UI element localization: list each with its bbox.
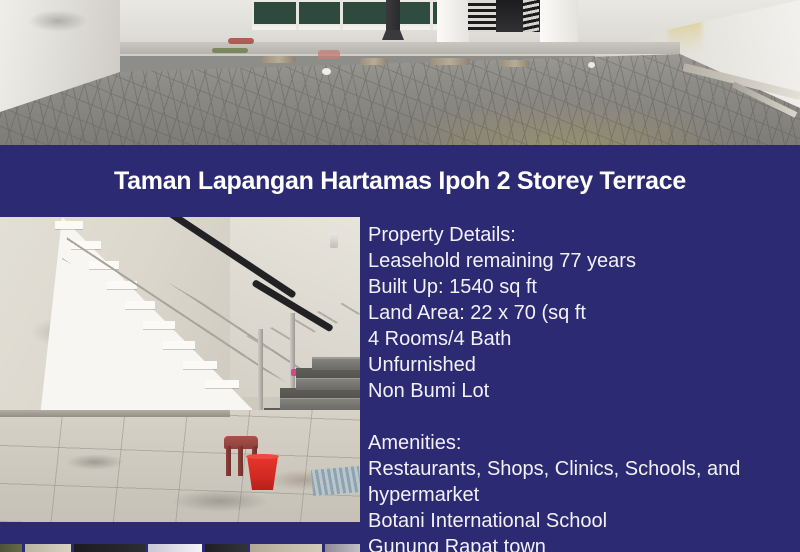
page-title: Taman Lapangan Hartamas Ipoh 2 Storey Te… — [114, 167, 686, 196]
carport-driveway-photo[interactable] — [0, 0, 800, 145]
baseboard — [0, 410, 230, 417]
debris-pink — [318, 50, 340, 59]
wall-sensor — [330, 233, 338, 248]
concrete-crack-pattern — [0, 50, 800, 145]
window-mullion — [340, 0, 343, 30]
property-listing-card: Taman Lapangan Hartamas Ipoh 2 Storey Te… — [0, 0, 800, 552]
title-bar: Taman Lapangan Hartamas Ipoh 2 Storey Te… — [0, 145, 800, 217]
debris-green — [212, 48, 248, 53]
amenity-school: Botani International School — [368, 508, 792, 534]
section-spacer — [368, 404, 792, 430]
white-column-left — [437, 0, 469, 44]
property-details-heading: Property Details: — [368, 222, 792, 248]
amenity-town: Gunung Rapat town — [368, 534, 792, 552]
photo-thumbnail-strip[interactable] — [0, 544, 360, 552]
stool-leg — [238, 446, 243, 476]
debris-white — [588, 62, 595, 68]
amenities-section: Amenities: Restaurants, Shops, Clinics, … — [368, 430, 792, 552]
door-mat — [311, 466, 360, 496]
detail-land-area: Land Area: 22 x 70 (sq ft — [368, 300, 792, 326]
wall-smudge — [28, 10, 88, 32]
stool-leg — [226, 446, 231, 476]
red-bucket — [247, 456, 278, 490]
thumbnail-3[interactable] — [74, 544, 144, 552]
thumbnail-6[interactable] — [250, 544, 322, 552]
staircase-interior-photo[interactable] — [0, 217, 360, 522]
detail-leasehold: Leasehold remaining 77 years — [368, 248, 792, 274]
amenities-heading: Amenities: — [368, 430, 792, 456]
grille-gate-left — [468, 0, 496, 32]
thumbnail-7[interactable] — [325, 544, 360, 552]
window-mullion — [296, 0, 299, 30]
floor-stain — [172, 490, 268, 512]
thumbnail-4[interactable] — [148, 544, 203, 552]
white-column-right — [540, 0, 578, 48]
thumbnail-2[interactable] — [25, 544, 72, 552]
debris-rubble — [500, 60, 530, 67]
amenity-nearby-services: Restaurants, Shops, Clinics, Schools, an… — [368, 456, 792, 508]
porch-step — [120, 42, 680, 54]
property-details-panel: Property Details: Leasehold remaining 77… — [368, 222, 792, 552]
detail-lot-type: Non Bumi Lot — [368, 378, 792, 404]
debris-rubble — [430, 58, 470, 65]
window-mullion — [430, 0, 433, 30]
detail-built-up: Built Up: 1540 sq ft — [368, 274, 792, 300]
debris-white — [322, 68, 331, 75]
bucket-rim — [246, 454, 279, 459]
detail-furnishing: Unfurnished — [368, 352, 792, 378]
floor-stain — [66, 454, 124, 470]
thumbnail-1[interactable] — [0, 544, 22, 552]
debris-rubble — [360, 58, 388, 65]
thumbnail-5[interactable] — [205, 544, 246, 552]
debris-red — [228, 38, 254, 44]
grille-gate-right — [523, 0, 539, 32]
window-pane-left — [252, 0, 392, 30]
detail-rooms-bath: 4 Rooms/4 Bath — [368, 326, 792, 352]
debris-rubble — [262, 56, 296, 63]
